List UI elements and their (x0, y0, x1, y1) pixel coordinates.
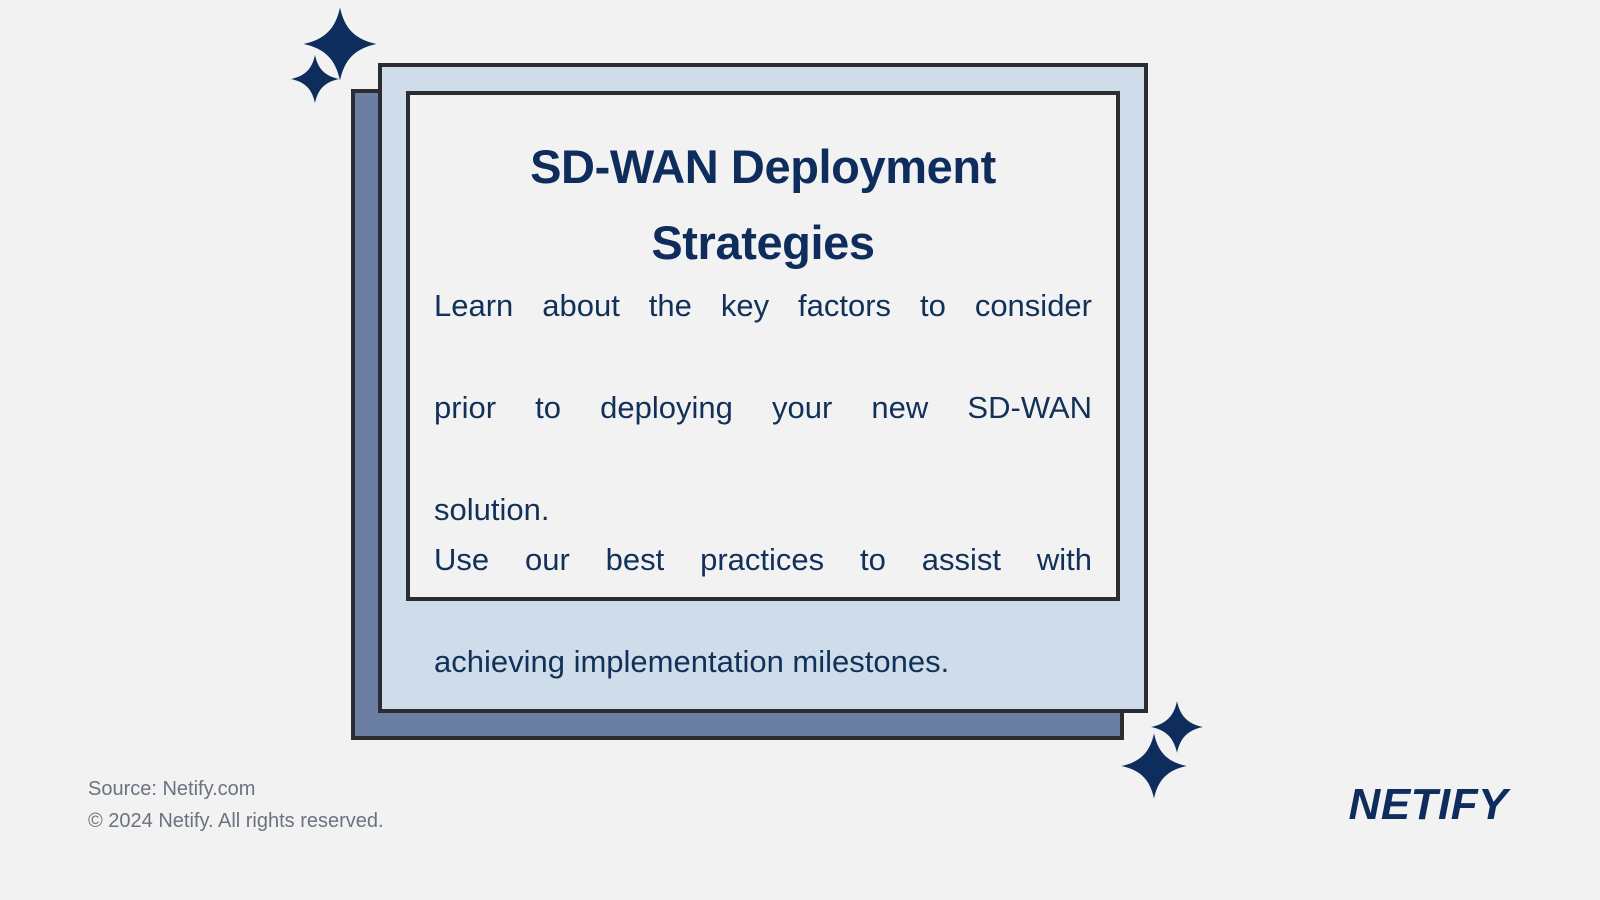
description-line: prior to deploying your new SD-WAN (434, 383, 1092, 485)
footer-credits: Source: Netify.com © 2024 Netify. All ri… (88, 773, 384, 838)
page-title-line-1: SD-WAN Deployment (530, 140, 996, 193)
description-paragraph-2: Use our best practices to assist with ac… (434, 535, 1092, 687)
description-line: Learn about the key factors to consider (434, 281, 1092, 383)
card-description: Learn about the key factors to consider … (434, 281, 1092, 688)
page-title-line-2: Strategies (651, 216, 874, 269)
netify-logo: NETIFY (1349, 783, 1508, 827)
poster-canvas: SD-WAN DeploymentStrategies Learn about … (0, 0, 1600, 900)
source-attribution: Source: Netify.com (88, 773, 384, 805)
description-line: Use our best practices to assist with (434, 535, 1092, 637)
card-content-panel: SD-WAN DeploymentStrategies Learn about … (406, 91, 1120, 601)
description-line: solution. (434, 485, 1092, 536)
sparkle-icon-bottom-right-large (1120, 732, 1188, 800)
page-title: SD-WAN DeploymentStrategies (434, 129, 1092, 281)
copyright-notice: © 2024 Netify. All rights reserved. (88, 805, 384, 837)
description-line: achieving implementation milestones. (434, 637, 1092, 688)
description-paragraph-1: Learn about the key factors to consider … (434, 281, 1092, 535)
sparkle-icon-top-left-small (290, 54, 340, 104)
